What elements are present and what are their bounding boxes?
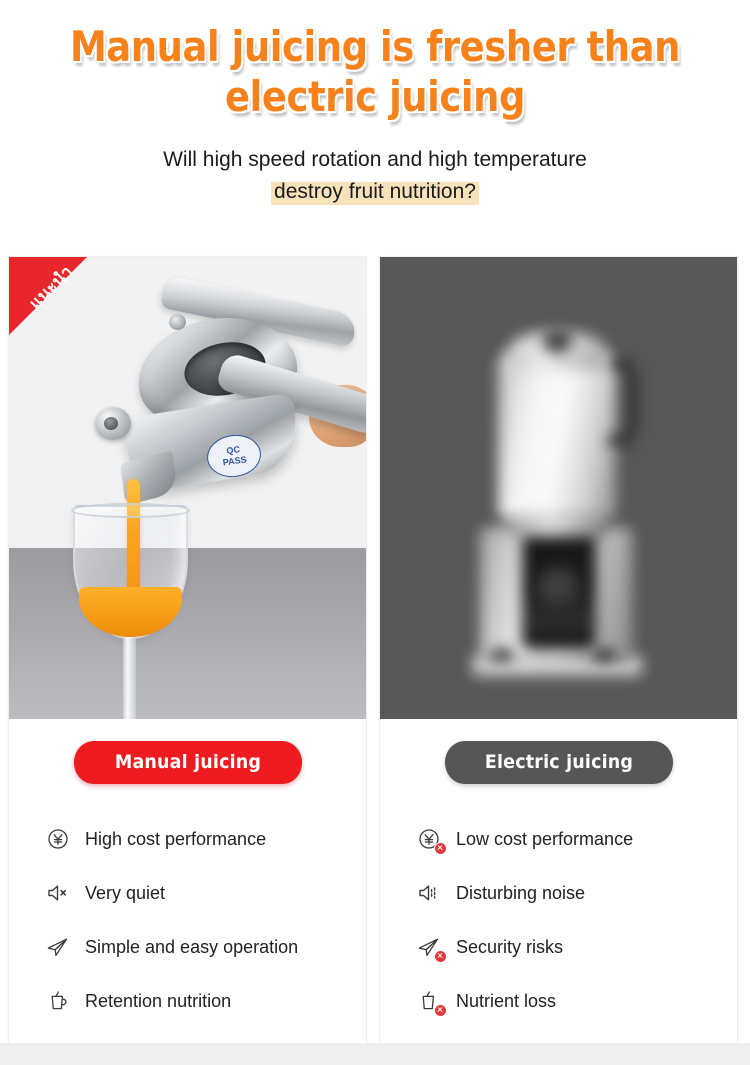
electric-badge-row: Electric juicing (380, 741, 737, 784)
blender-dial-shape (536, 567, 582, 611)
list-item: High cost performance (43, 812, 352, 866)
drink-cup-icon (43, 986, 73, 1016)
list-item-label: Nutrient loss (456, 990, 556, 1013)
headline-line-1: Manual juicing is fresher than (45, 22, 705, 72)
comparison-cards: แนะนำ QC PASS (8, 256, 742, 1047)
manual-juicer-photo: แนะนำ QC PASS (9, 257, 366, 719)
qc-pass-line-1: QC (226, 444, 241, 456)
subtitle-line-2-wrap: destroy fruit nutrition? (0, 176, 750, 208)
list-item-label: Low cost performance (456, 828, 633, 851)
electric-card-body: Electric juicing Low cost performan (380, 719, 737, 1046)
footer-strip (0, 1043, 750, 1065)
drink-cup-icon (414, 986, 444, 1016)
list-item: Very quiet (43, 866, 352, 920)
negation-x-icon (434, 842, 447, 855)
wine-glass-rim-shape (71, 503, 190, 518)
list-item-label: Simple and easy operation (85, 936, 298, 959)
headline-line-2: electric juicing (45, 72, 705, 122)
speaker-loud-icon (414, 878, 444, 908)
paper-plane-icon (414, 932, 444, 962)
blender-right-foot-shape (592, 649, 616, 661)
speaker-muted-icon (43, 878, 73, 908)
juicer-pivot-screw-shape (104, 417, 118, 430)
page-title: Manual juicing is fresher than electric … (45, 22, 705, 122)
list-item-label: Retention nutrition (85, 990, 231, 1013)
list-item: Disturbing noise (414, 866, 723, 920)
negation-x-icon (434, 950, 447, 963)
wine-glass-juice-shape (79, 587, 182, 637)
yen-coin-icon (43, 824, 73, 854)
list-item-label: Disturbing noise (456, 882, 585, 905)
manual-feature-list: High cost performance Very quiet (9, 812, 366, 1028)
badge-electric-juicing[interactable]: Electric juicing (444, 741, 672, 784)
paper-plane-icon (43, 932, 73, 962)
blender-handle-shape (608, 359, 638, 445)
manual-card-body: Manual juicing High cost performance (9, 719, 366, 1046)
list-item: Security risks (414, 920, 723, 974)
manual-badge-row: Manual juicing (9, 741, 366, 784)
list-item-label: High cost performance (85, 828, 266, 851)
list-item-label: Very quiet (85, 882, 165, 905)
list-item-label: Security risks (456, 936, 563, 959)
qc-pass-line-2: PASS (222, 454, 247, 467)
blender-jar-shape (498, 353, 616, 517)
list-item: Retention nutrition (43, 974, 352, 1028)
promo-page: Manual juicing is fresher than electric … (0, 0, 750, 1065)
negation-x-icon (434, 1004, 447, 1017)
list-item: Nutrient loss (414, 974, 723, 1028)
wine-glass-stem-shape (123, 635, 136, 719)
page-header: Manual juicing is fresher than electric … (0, 0, 750, 208)
card-electric-juicing[interactable]: Electric juicing Low cost performan (379, 256, 738, 1047)
list-item: Simple and easy operation (43, 920, 352, 974)
blender-left-foot-shape (490, 649, 514, 661)
subtitle-line-2-highlight: destroy fruit nutrition? (271, 180, 479, 205)
card-manual-juicing[interactable]: แนะนำ QC PASS (8, 256, 367, 1047)
electric-feature-list: Low cost performance Disturbing noise (380, 812, 737, 1028)
electric-blender-photo (380, 257, 737, 719)
yen-coin-icon (414, 824, 444, 854)
blender-lid-knob-shape (542, 327, 572, 353)
page-subtitle: Will high speed rotation and high temper… (0, 144, 750, 208)
list-item: Low cost performance (414, 812, 723, 866)
badge-manual-juicing[interactable]: Manual juicing (73, 741, 301, 784)
juicer-bolt-shape (169, 314, 186, 330)
subtitle-line-1: Will high speed rotation and high temper… (0, 144, 750, 176)
